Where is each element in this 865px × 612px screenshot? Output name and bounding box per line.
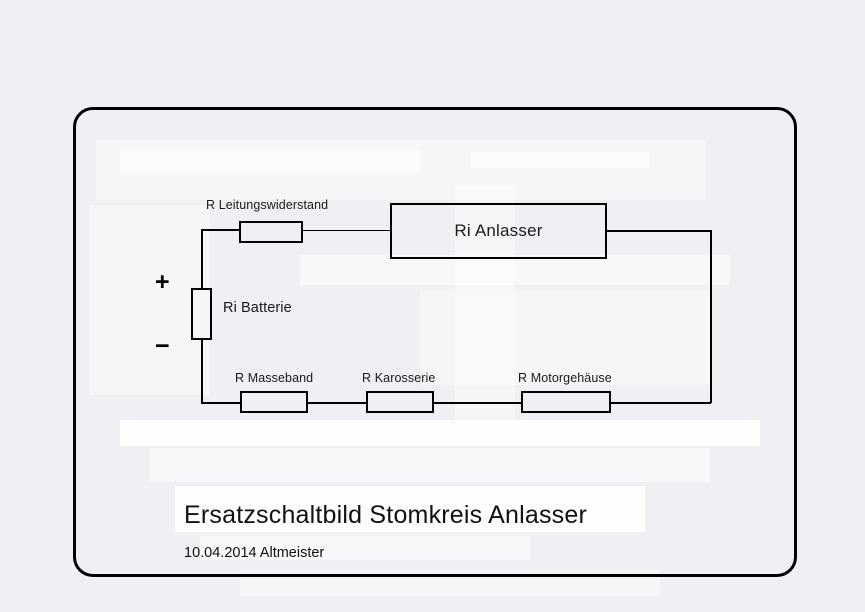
page-subtitle: 10.04.2014 Altmeister bbox=[184, 545, 324, 561]
wire-left-upper bbox=[201, 229, 203, 289]
wire-top-left bbox=[201, 229, 240, 231]
component-label-ri-anlasser: Ri Anlasser bbox=[454, 221, 542, 241]
resistor-r-leitungswiderstand bbox=[239, 221, 303, 243]
component-ri-anlasser: Ri Anlasser bbox=[390, 203, 607, 259]
resistor-r-motorgehaeuse bbox=[521, 391, 611, 413]
page-title: Ersatzschaltbild Stomkreis Anlasser bbox=[184, 501, 587, 530]
wire-bottom-1 bbox=[201, 402, 241, 404]
wire-right-top bbox=[606, 230, 711, 232]
resistor-label-r-leitungswiderstand: R Leitungswiderstand bbox=[206, 198, 328, 212]
battery-negative-terminal: − bbox=[155, 334, 170, 359]
resistor-label-r-karosserie: R Karosserie bbox=[362, 371, 435, 385]
resistor-label-r-masseband: R Masseband bbox=[235, 371, 313, 385]
resistor-label-r-motorgehaeuse: R Motorgehäuse bbox=[518, 371, 612, 385]
wire-left-lower bbox=[201, 339, 203, 403]
resistor-ri-batterie bbox=[191, 288, 212, 340]
wire-top-mid bbox=[302, 230, 391, 231]
resistor-r-karosserie bbox=[366, 391, 434, 413]
resistor-label-ri-batterie: Ri Batterie bbox=[223, 300, 292, 316]
wire-right-down bbox=[710, 230, 712, 403]
wire-bottom-3 bbox=[433, 402, 522, 404]
battery-positive-terminal: + bbox=[155, 270, 170, 295]
wire-bottom-2 bbox=[306, 402, 367, 404]
slide-canvas: R Leitungswiderstand Ri Batterie + − Ri … bbox=[0, 0, 865, 612]
wire-bottom-4 bbox=[610, 402, 711, 404]
resistor-r-masseband bbox=[240, 391, 308, 413]
